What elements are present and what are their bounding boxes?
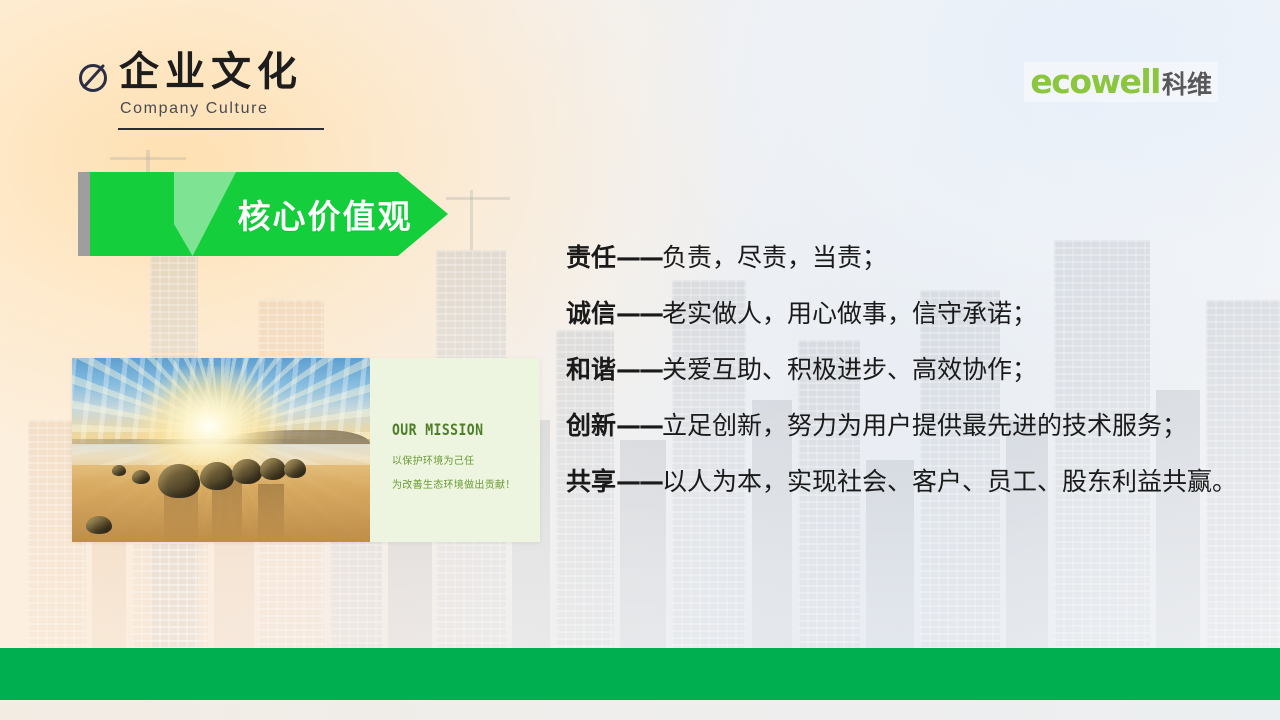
boulder: [86, 516, 112, 534]
value-key: 责任: [566, 238, 616, 274]
footer-light-strip: [0, 700, 1280, 720]
value-dash: ——: [616, 243, 662, 272]
value-key: 和谐: [566, 350, 616, 386]
value-row-responsibility: 责任 —— 负责，尽责，当责；: [566, 238, 1272, 274]
value-row-sharing: 共享 —— 以人为本，实现社会、客户、员工、股东利益共赢。: [566, 462, 1272, 498]
banner-label: 核心价值观: [202, 172, 448, 256]
page-title: 企业文化: [119, 52, 303, 92]
mission-text-panel: OUR MISSION 以保护环境为己任 为改善生态环境做出贡献！: [370, 358, 540, 542]
brand-logo: ecowell 科维: [1024, 62, 1218, 102]
value-key: 创新: [566, 406, 616, 442]
page-subtitle: Company Culture: [120, 100, 269, 118]
brand-name-cn: 科维: [1162, 72, 1212, 97]
boulder: [284, 459, 306, 478]
value-key: 诚信: [566, 294, 616, 330]
value-dash: ——: [616, 411, 662, 440]
boulder: [158, 464, 200, 498]
core-values-list: 责任 —— 负责，尽责，当责； 诚信 —— 老实做人，用心做事，信守承诺； 和谐…: [566, 238, 1272, 498]
value-text: 立足创新，努力为用户提供最先进的技术服务；: [662, 406, 1187, 442]
value-row-innovation: 创新 —— 立足创新，努力为用户提供最先进的技术服务；: [566, 406, 1272, 442]
value-dash: ——: [616, 355, 662, 384]
mission-line-1: 以保护环境为己任: [392, 452, 540, 467]
value-key: 共享: [566, 462, 616, 498]
slide-canvas: 企业文化 Company Culture ecowell 科维 核心价值观: [0, 0, 1280, 720]
mission-line-2: 为改善生态环境做出贡献！: [392, 476, 540, 491]
mission-card: OUR MISSION 以保护环境为己任 为改善生态环境做出贡献！: [72, 358, 540, 542]
footer-green-bar: [0, 648, 1280, 700]
boulder: [112, 465, 126, 476]
value-text: 老实做人，用心做事，信守承诺；: [662, 294, 1037, 330]
title-underline-rule: [118, 128, 324, 130]
value-dash: ——: [616, 467, 662, 496]
sunrise-beach-photo: [72, 358, 370, 542]
section-banner: 核心价值观: [78, 172, 448, 256]
boulder: [260, 458, 286, 480]
slashed-circle-icon: [74, 57, 114, 97]
boulder: [232, 459, 262, 484]
brand-name-en: ecowell: [1030, 65, 1160, 98]
value-row-harmony: 和谐 —— 关爱互助、积极进步、高效协作；: [566, 350, 1272, 386]
boulder: [132, 470, 150, 484]
value-row-integrity: 诚信 —— 老实做人，用心做事，信守承诺；: [566, 294, 1272, 330]
boulder: [200, 462, 234, 490]
value-text: 负责，尽责，当责；: [662, 238, 887, 274]
value-text: 以人为本，实现社会、客户、员工、股东利益共赢。: [662, 462, 1237, 498]
banner-left-bar: [78, 172, 90, 256]
mission-title: OUR MISSION: [392, 420, 513, 439]
value-text: 关爱互助、积极进步、高效协作；: [662, 350, 1037, 386]
value-dash: ——: [616, 299, 662, 328]
